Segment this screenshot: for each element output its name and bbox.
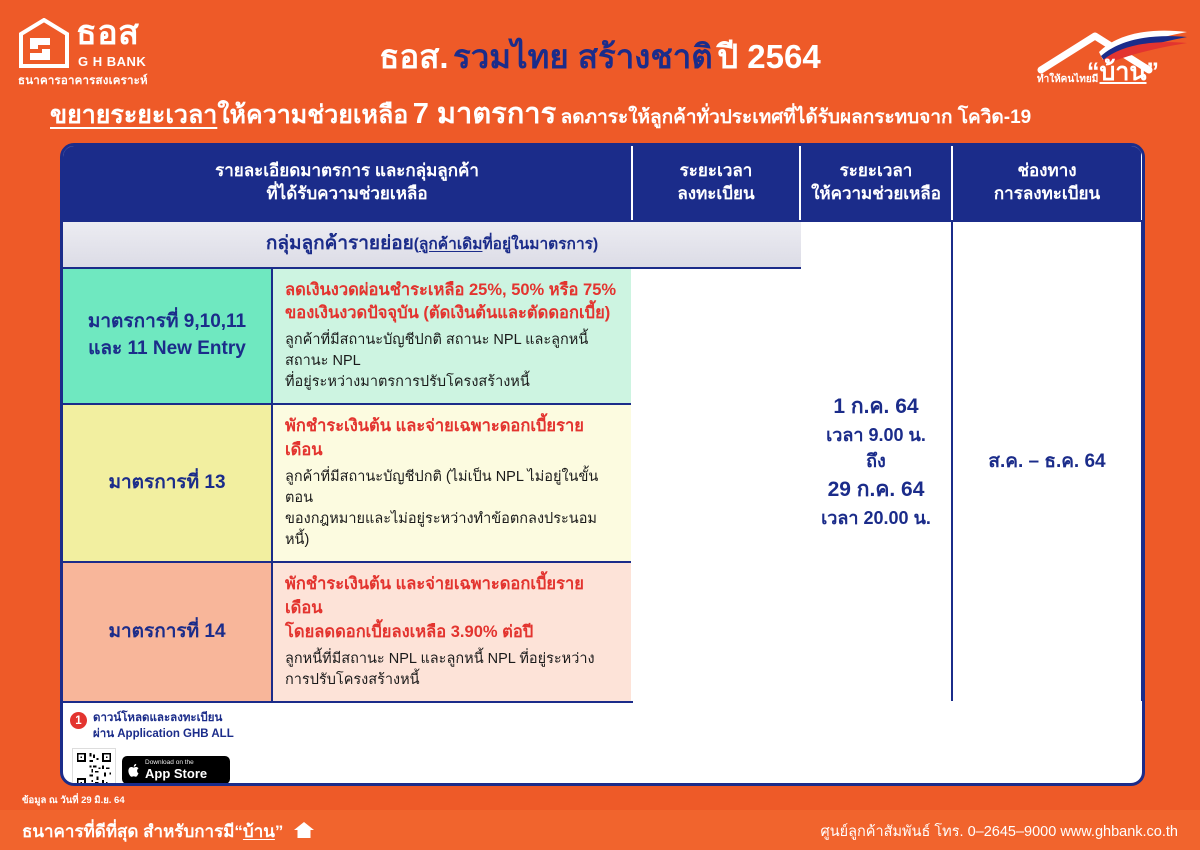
appstore-badge-top: Download on the [145,759,207,766]
retail-help-period: ส.ค. – ธ.ค. 64 [953,220,1143,701]
measure3-hl-line2: โดยลดดอกเบี้ยลงเหลือ 3.90% ต่อปี [285,621,619,645]
title-part-1: ธอส. [379,38,448,75]
column-header-registration-period: ระยะเวลา ลงทะเบียน [633,146,801,220]
channel-1-line2: ผ่าน Application GHB ALL [93,727,234,743]
subtitle-underlined: ขยายระยะเวลา [50,101,217,129]
measure3-hl-line1: พักชำระเงินต้น และจ่ายเฉพาะดอกเบี้ยรายเด… [285,573,619,621]
retail-band-underline: ลูกค้าเดิม [419,236,483,253]
measure1-name-line2: และ 11 New Entry [88,336,246,363]
measure-desc-14: พักชำระเงินต้น และจ่ายเฉพาะดอกเบี้ยรายเด… [273,563,631,701]
title-part-3: ปี 2564 [717,38,821,75]
measures-table: รายละเอียดมาตรการ และกลุ่มลูกค้า ที่ได้ร… [60,143,1145,786]
col-chan-line2: การลงทะเบียน [959,183,1135,206]
infographic-page: ธอส G H BANK ธนาคารอาคารสงเคราะห์ ธอส. ร… [0,0,1200,850]
col-reg-line2: ลงทะเบียน [639,183,793,206]
measure1-hl-line1: ลดเงินงวดผ่อนชำระเหลือ 25%, 50% หรือ 75% [285,279,619,303]
baan-campaign-logo: ทำให้คนไทยมี “บ้าน” [1015,8,1190,100]
measure1-note-line2: ที่อยู่ระหว่างมาตรการปรับโครงสร้างหนี้ [285,372,619,393]
subtitle-tail: ลดภาระให้ลูกค้าทั่วประเทศที่ได้รับผลกระท… [561,107,1032,128]
measure1-note-line1: ลูกค้าที่มีสถานะบัญชีปกติ สถานะ NPL และล… [285,330,619,372]
baan-tagline-word: “บ้าน” [1087,60,1159,85]
measure2-hl-line1: พักชำระเงินต้น และจ่ายเฉพาะดอกเบี้ยรายเด… [285,415,619,463]
house-icon [293,821,315,839]
footer-quote-close: ” [275,822,284,841]
subtitle-measure-count: 7 มาตรการ [413,98,556,130]
measure3-note-line2: การปรับโครงสร้างหนี้ [285,670,619,691]
appstore-badge[interactable]: Download on the App Store [122,756,230,783]
footer-contact: ศูนย์ลูกค้าสัมพันธ์ โทร. 0–2645–9000 www… [821,820,1178,843]
retail-group-band: กลุ่มลูกค้ารายย่อย(ลูกค้าเดิมที่อยู่ในมา… [63,220,801,269]
logo-thai-name: ธนาคารอาคารสงเคราะห์ [18,72,148,90]
col-help-line1: ระยะเวลา [807,160,945,183]
channel-item-1: 1 ดาวน์โหลดและลงทะเบียน ผ่าน Application… [70,711,626,742]
col-help-line2: ให้ความช่วยเหลือ [807,183,945,206]
retail-reg-line1: 1 ก.ค. 64 [821,392,931,422]
retail-band-main: กลุ่มลูกค้ารายย่อย [266,233,414,254]
channel-1-title: ดาวน์โหลดและลงทะเบียน ผ่าน Application G… [93,711,234,742]
measure2-note-line1: ลูกค้าที่มีสถานะบัญชีปกติ (ไม่เป็น NPL ไ… [285,467,619,509]
retail-reg-line5: เวลา 20.00 น. [821,505,931,531]
registration-channels-panel: 1 ดาวน์โหลดและลงทะเบียน ผ่าน Application… [63,701,633,786]
retail-group-block: กลุ่มลูกค้ารายย่อย(ลูกค้าเดิมที่อยู่ในมา… [63,220,801,701]
measure-name-9-10-11: มาตรการที่ 9,10,11 และ 11 New Entry [63,269,273,406]
column-header-help-period: ระยะเวลา ให้ความช่วยเหลือ [801,146,953,220]
footer-quote-open: “ [234,822,243,841]
retail-reg-line2: เวลา 9.00 น. [821,422,931,448]
measure1-name-line1: มาตรการที่ 9,10,11 [88,309,246,336]
measure-name-13: มาตรการที่ 13 [63,405,273,563]
header: ธอส G H BANK ธนาคารอาคารสงเคราะห์ ธอส. ร… [0,0,1200,140]
column-header-channel: ช่องทาง การลงทะเบียน [953,146,1143,220]
column-header-details: รายละเอียดมาตรการ และกลุ่มลูกค้า ที่ได้ร… [63,146,633,220]
title-part-2: รวมไทย สร้างชาติ [453,38,713,75]
col-details-line2: ที่ได้รับความช่วยเหลือ [69,183,625,206]
retail-band-paren-rest: ที่อยู่ในมาตรการ) [482,236,598,253]
measure3-name-line1: มาตรการที่ 14 [108,619,225,646]
measure-name-14: มาตรการที่ 14 [63,563,273,701]
measure-desc-9-10-11: ลดเงินงวดผ่อนชำระเหลือ 25%, 50% หรือ 75%… [273,269,631,406]
col-details-line1: รายละเอียดมาตรการ และกลุ่มลูกค้า [69,160,625,183]
channel-1-line1: ดาวน์โหลดและลงทะเบียน [93,711,234,727]
measure3-note-line1: ลูกหนี้ที่มีสถานะ NPL และลูกหนี้ NPL ที่… [285,649,619,670]
appstore-qr-icon[interactable] [72,748,116,786]
appstore-row[interactable]: Download on the App Store [72,748,626,786]
appstore-badge-main: App Store [145,767,207,781]
retail-measures-grid: มาตรการที่ 9,10,11 และ 11 New Entry ลดเง… [63,269,801,702]
footer-slogan: ธนาคารที่ดีที่สุด สำหรับการมี“บ้าน” [22,818,315,845]
subtitle-rest: ให้ความช่วยเหลือ [217,101,408,129]
retail-reg-line4: 29 ก.ค. 64 [821,475,931,505]
measure2-note-line2: ของกฎหมายและไม่อยู่ระหว่างทำข้อตกลงประนอ… [285,509,619,551]
as-of-date: ข้อมูล ณ วันที่ 29 มิ.ย. 64 [22,793,125,808]
measure1-hl-line2: ของเงินงวดปัจจุบัน (ตัดเงินต้นและตัดดอกเ… [285,302,619,326]
footer-slogan-text: ธนาคารที่ดีที่สุด สำหรับการมี [22,822,234,841]
col-reg-line1: ระยะเวลา [639,160,793,183]
apple-icon [128,763,141,778]
col-chan-line1: ช่องทาง [959,160,1135,183]
channel-1-number-icon: 1 [70,712,87,729]
measure2-name-line1: มาตรการที่ 13 [108,470,225,497]
page-subtitle: ขยายระยะเวลาให้ความช่วยเหลือ 7 มาตรการ ล… [50,100,1031,129]
footer-slogan-baan: บ้าน [243,822,275,841]
retail-registration-period: 1 ก.ค. 64 เวลา 9.00 น. ถึง 29 ก.ค. 64 เว… [801,220,953,701]
table-grid: รายละเอียดมาตรการ และกลุ่มลูกค้า ที่ได้ร… [63,146,1142,786]
measure-desc-13: พักชำระเงินต้น และจ่ายเฉพาะดอกเบี้ยรายเด… [273,405,631,563]
retail-reg-line3: ถึง [821,448,931,474]
